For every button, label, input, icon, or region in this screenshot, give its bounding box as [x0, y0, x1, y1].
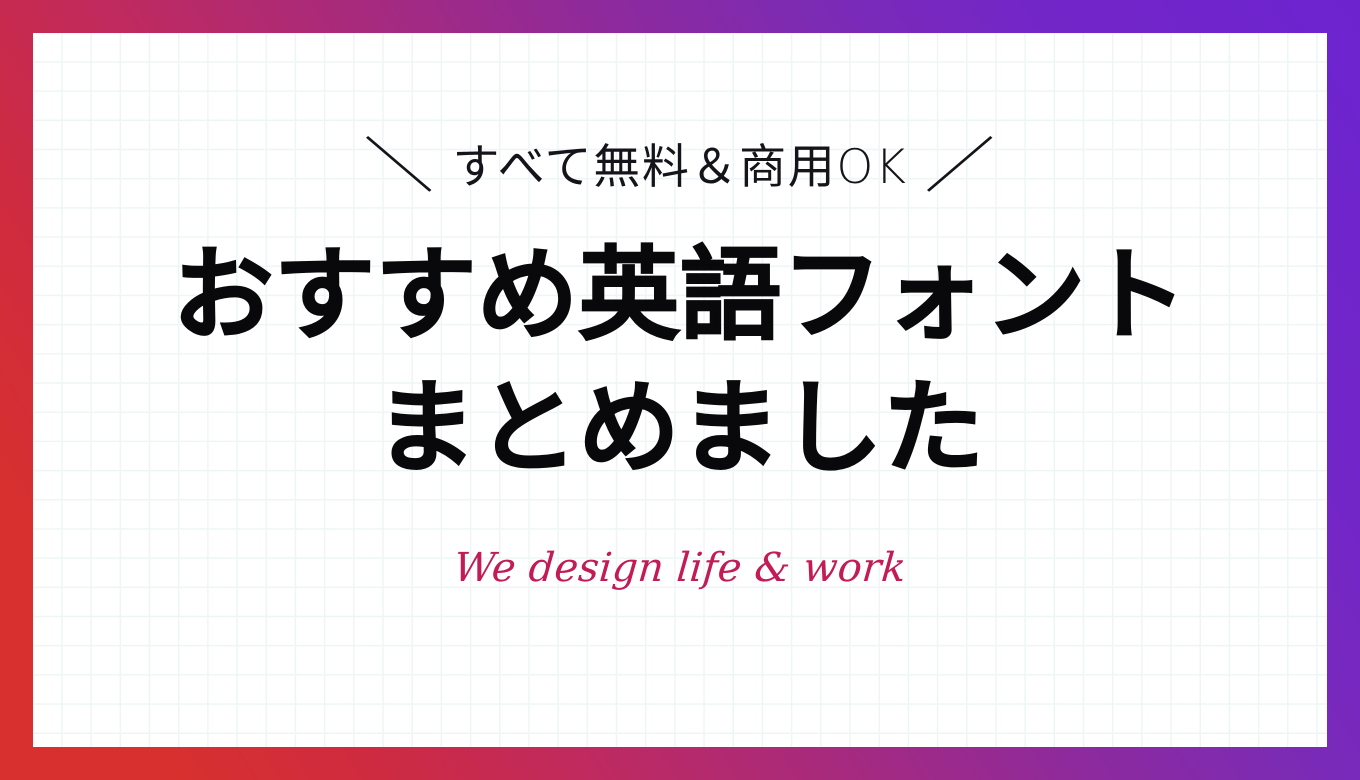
banner-content: ＼ すべて無料＆商用OK ／ おすすめ英語フォント まとめました We desi… [33, 33, 1327, 747]
kicker-text: すべて無料＆商用OK [452, 144, 907, 191]
page-title: おすすめ英語フォント まとめました [172, 229, 1187, 496]
headline-line-1: おすすめ英語フォント [172, 229, 1187, 362]
grid-paper-sheet: ＼ すべて無料＆商用OK ／ おすすめ英語フォント まとめました We desi… [33, 33, 1327, 747]
slash-left-decoration: ＼ [363, 137, 435, 197]
tagline-script: We design life & work [452, 548, 907, 588]
headline-line-2: まとめました [172, 362, 1187, 495]
slash-right-decoration: ／ [924, 137, 996, 197]
banner-canvas: ＼ すべて無料＆商用OK ／ おすすめ英語フォント まとめました We desi… [0, 0, 1360, 780]
kicker-line: ＼ すべて無料＆商用OK ／ [373, 141, 987, 193]
